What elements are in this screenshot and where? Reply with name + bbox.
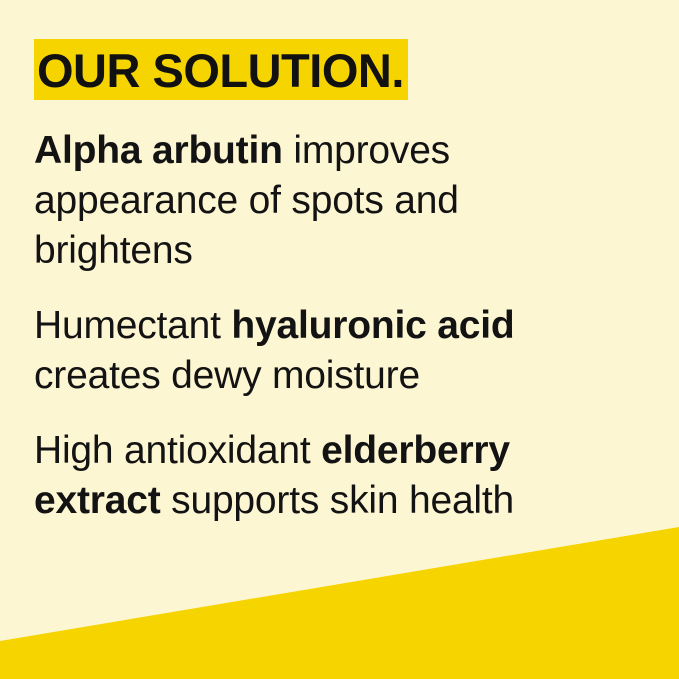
benefit-prefix-elderberry-extract: High antioxidant xyxy=(34,429,321,472)
benefit-description-hyaluronic-acid: creates dewy moisture xyxy=(34,354,420,397)
benefit-ingredient-alpha-arbutin: Alpha arbutin xyxy=(34,129,283,172)
benefit-item-elderberry-extract: High antioxidant elderberry extract supp… xyxy=(34,426,604,526)
solution-infographic-card: OUR SOLUTION. Alpha arbutin improves app… xyxy=(0,0,679,679)
benefit-description-elderberry-extract: supports skin health xyxy=(161,479,515,522)
wedge-shape xyxy=(0,527,679,679)
benefit-ingredient-hyaluronic-acid: hyaluronic acid xyxy=(231,304,514,347)
benefit-prefix-hyaluronic-acid: Humectant xyxy=(34,304,231,347)
page-title: OUR SOLUTION. xyxy=(34,39,408,100)
heading-wrapper: OUR SOLUTION. xyxy=(34,47,408,95)
benefit-item-alpha-arbutin: Alpha arbutin improves appearance of spo… xyxy=(34,126,604,276)
benefit-item-hyaluronic-acid: Humectant hyaluronic acid creates dewy m… xyxy=(34,301,604,401)
benefit-list: Alpha arbutin improves appearance of spo… xyxy=(34,126,604,526)
